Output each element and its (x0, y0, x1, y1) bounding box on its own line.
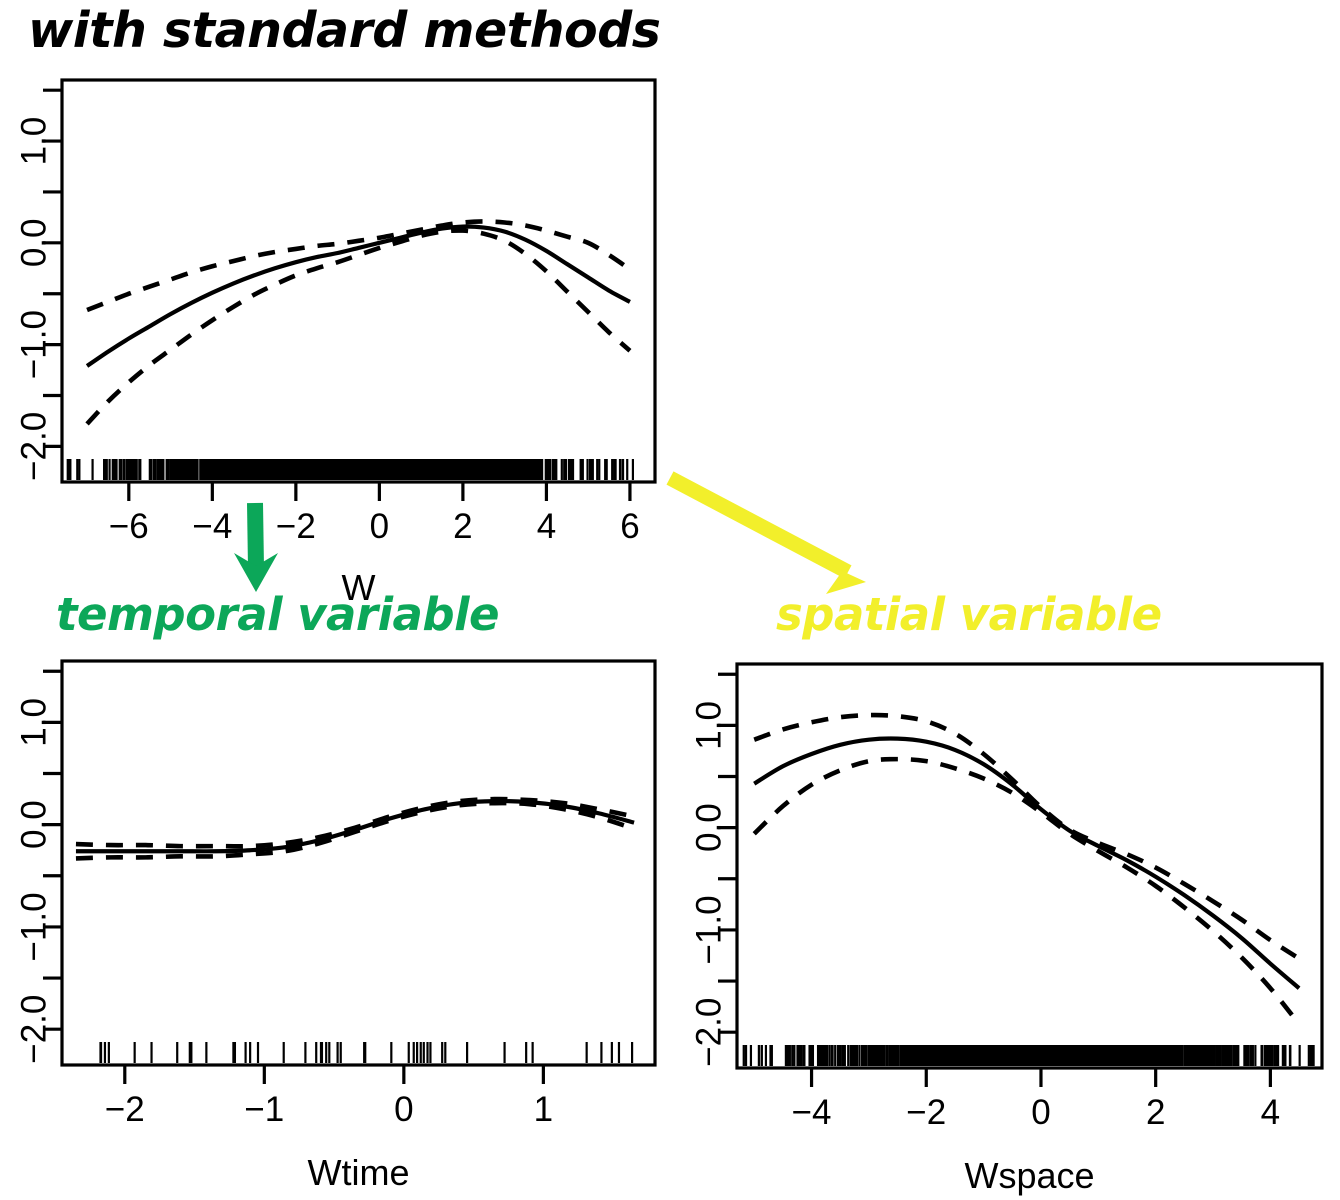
panel-wtime-rug (101, 1042, 633, 1063)
panel-w-ytick-label: −1.0 (15, 310, 54, 379)
panel-wtime-group: −2.0−1.00.01.0−2−101Wtime (15, 661, 656, 1193)
panel-wspace-curves (754, 715, 1299, 1024)
panel-wtime-ytick-label: −2.0 (15, 995, 54, 1064)
panel-wtime-xtick-label: 0 (394, 1090, 413, 1129)
panel-w-curves (87, 221, 630, 424)
panel-wspace-group: −2.0−1.00.01.0−4−2024Wspace (690, 664, 1323, 1196)
panel-w-frame (62, 80, 655, 482)
spatial-variable-label: spatial variable (776, 588, 1162, 641)
panel-wspace-rug (744, 1045, 1314, 1066)
panel-wspace-fit (754, 739, 1299, 989)
panel-w-lower-ci (87, 231, 630, 424)
down-arrow-shaft (255, 503, 256, 568)
panel-wtime-ytick-label: −1.0 (15, 892, 54, 961)
panel-wtime-curves (76, 799, 634, 858)
panel-wspace-xtick-label: 2 (1146, 1093, 1165, 1132)
diagonal-arrow-shaft (670, 478, 848, 572)
panel-wspace-xtick-label: −4 (792, 1093, 832, 1132)
panel-wspace-ytick-label: 1.0 (690, 701, 729, 750)
figure-title: with standard methods (28, 2, 660, 59)
panel-wtime-xlabel: Wtime (308, 1152, 410, 1193)
panel-wtime-xtick-label: −1 (244, 1090, 284, 1129)
panel-w-xtick-label: 0 (370, 507, 389, 546)
temporal-variable-label: temporal variable (56, 588, 499, 641)
panel-w-ytick-label: −2.0 (15, 412, 54, 481)
figure-canvas: with standard methods temporal variable … (0, 0, 1340, 1200)
panel-wtime-xtick-label: −2 (105, 1090, 145, 1129)
panel-w-xtick-label: −6 (109, 507, 149, 546)
panel-wspace-xtick-label: −2 (906, 1093, 946, 1132)
panel-wspace-xtick-label: 4 (1261, 1093, 1280, 1132)
panel-wspace-ytick-label: 0.0 (690, 803, 729, 852)
panel-w-upper-ci (87, 221, 630, 310)
panel-wtime-xtick-label: 1 (534, 1090, 553, 1129)
panel-wspace-xtick-label: 0 (1031, 1093, 1050, 1132)
panel-w-xtick-label: 4 (537, 507, 556, 546)
panel-wspace-xlabel: Wspace (964, 1155, 1094, 1196)
panel-wtime-frame (62, 661, 655, 1065)
panel-wspace-upper-ci (754, 715, 1299, 958)
panel-wspace-ytick-label: −1.0 (690, 895, 729, 964)
panel-w-xtick-label: 2 (453, 507, 472, 546)
panel-wtime-ytick-label: 1.0 (15, 698, 54, 747)
panel-w-group: −2.0−1.00.01.0−6−4−20246W (15, 80, 656, 608)
panel-w-xtick-label: −4 (192, 507, 232, 546)
panel-w-xtick-label: 6 (620, 507, 639, 546)
panel-wspace-frame (737, 664, 1322, 1068)
panel-wspace-ytick-label: −2.0 (690, 998, 729, 1067)
panel-w-ytick-label: 0.0 (15, 219, 54, 268)
panel-w-ytick-label: 1.0 (15, 117, 54, 166)
panel-w-fit (87, 227, 630, 366)
panel-w-rug (68, 459, 633, 480)
panel-w-xtick-label: −2 (276, 507, 316, 546)
panel-wtime-ytick-label: 0.0 (15, 800, 54, 849)
